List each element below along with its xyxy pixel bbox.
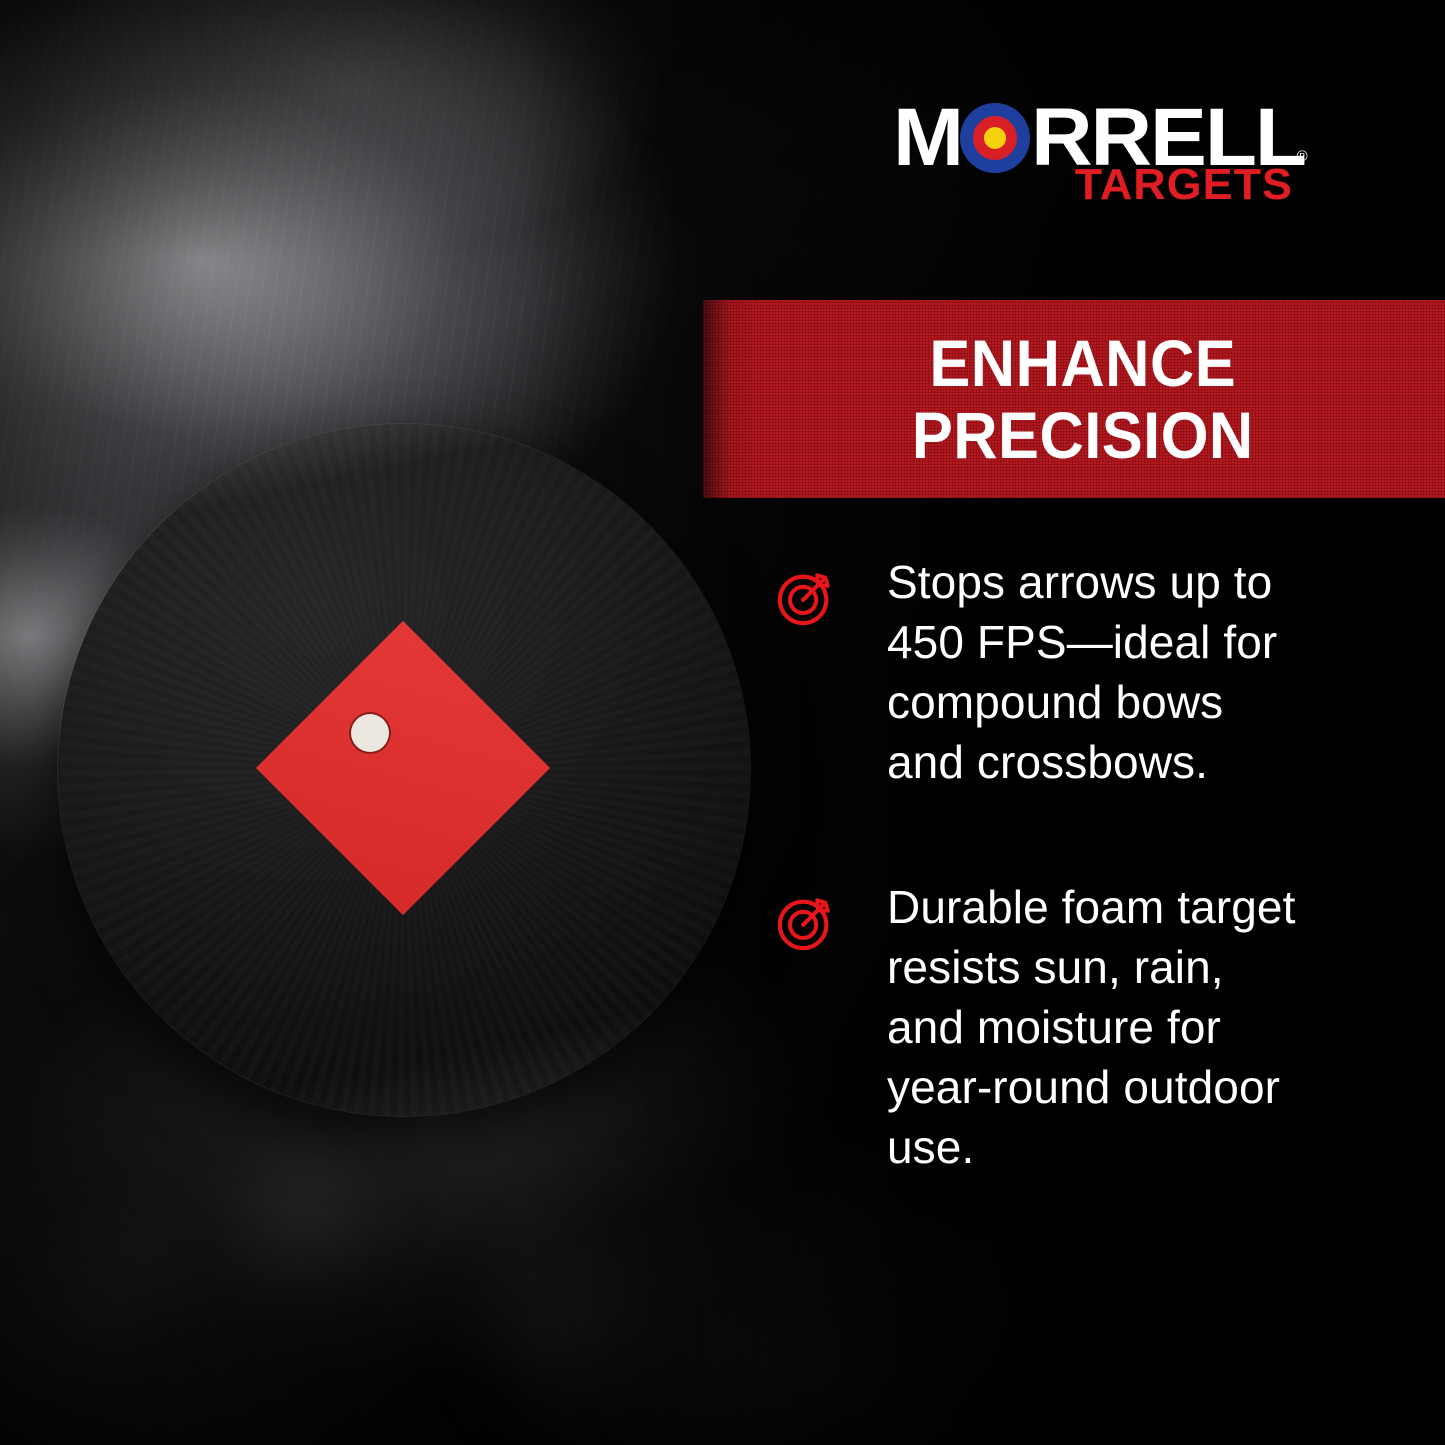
list-item: Stops arrows up to 450 FPS—ideal for com… [775, 552, 1375, 792]
bullseye-target-icon [960, 103, 1030, 173]
target-arrow-icon [775, 891, 837, 953]
logo-letter-m: M [893, 100, 962, 176]
feature-text: Durable foam target resists sun, rain, a… [887, 877, 1307, 1177]
feature-text: Stops arrows up to 450 FPS—ideal for com… [887, 552, 1307, 792]
target-arrow-icon [775, 566, 837, 628]
logo-subtitle: TARGETS [1075, 162, 1293, 208]
white-center-dot [351, 714, 389, 752]
headline-banner: ENHANCE PRECISION [703, 300, 1445, 498]
bullseye-red-ring [973, 116, 1017, 160]
bullseye-yellow-center [984, 127, 1006, 149]
product-feature-poster: M RRELL ® TARGETS ENHANCE PRECISION [0, 0, 1445, 1445]
list-item: Durable foam target resists sun, rain, a… [775, 877, 1375, 1177]
brand-logo: M RRELL ® TARGETS [893, 100, 1293, 218]
headline-text: ENHANCE PRECISION [912, 327, 1254, 471]
product-image [58, 424, 750, 1116]
feature-list: Stops arrows up to 450 FPS—ideal for com… [775, 552, 1375, 1177]
